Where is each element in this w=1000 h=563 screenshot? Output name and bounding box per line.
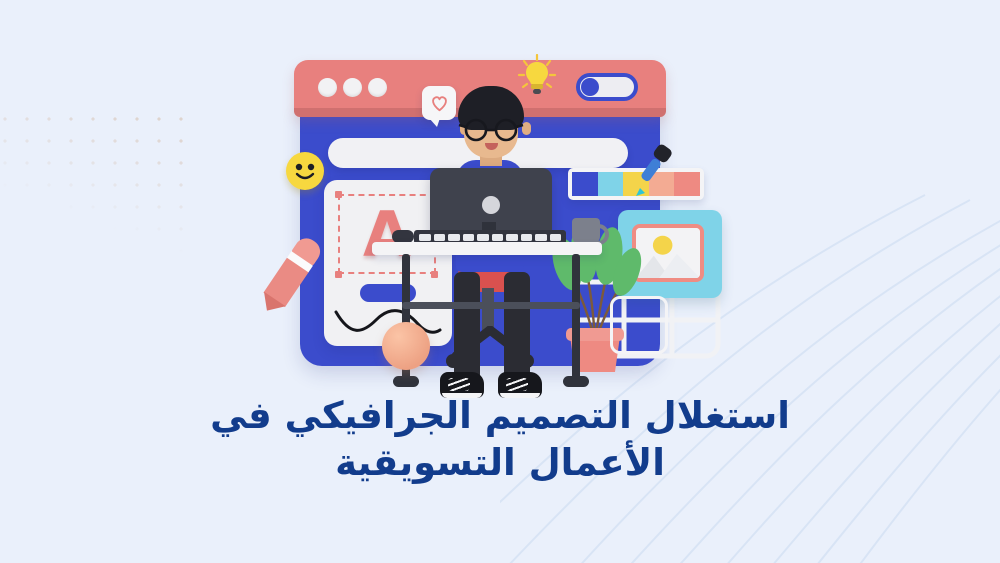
- paper-frame-decoration: [610, 296, 668, 354]
- monitor-logo: [482, 196, 500, 214]
- headline-line-2: الأعمال التسويقية: [0, 439, 1000, 486]
- glasses-icon: [458, 118, 524, 142]
- lightbulb-icon: [517, 54, 557, 98]
- coffee-mug: [572, 218, 600, 245]
- marketing-banner: A: [0, 0, 1000, 563]
- window-dot-icon: [318, 78, 337, 97]
- dot-pattern-decoration: [0, 108, 184, 278]
- window-dot-icon: [368, 78, 387, 97]
- character-leg-left: [454, 272, 480, 384]
- headline-line-1: استغلال التصميم الجرافيكي في: [0, 392, 1000, 439]
- swatch-cyan: [598, 172, 624, 196]
- shoe-stripes: [448, 378, 470, 391]
- page-title: استغلال التصميم الجرافيكي في الأعمال الت…: [0, 392, 1000, 487]
- desk-leg-right: [572, 254, 580, 382]
- swatch-blue: [572, 172, 598, 196]
- window-dot-icon: [343, 78, 362, 97]
- photo-image-icon: [632, 224, 704, 282]
- smiley-face-icon: [286, 152, 324, 190]
- desk-foot-left: [393, 376, 419, 387]
- peach-sphere-decoration: [382, 322, 430, 370]
- shoe-stripes: [506, 378, 528, 391]
- desk-crossbar: [402, 302, 580, 309]
- swatch-coral: [674, 172, 700, 196]
- toggle-switch-icon[interactable]: [576, 73, 638, 101]
- hero-illustration: A: [272, 44, 724, 396]
- heart-bubble-icon: [422, 86, 456, 120]
- eyedropper-icon: [630, 144, 674, 200]
- character-leg-right: [504, 272, 530, 384]
- desk-foot-right: [563, 376, 589, 387]
